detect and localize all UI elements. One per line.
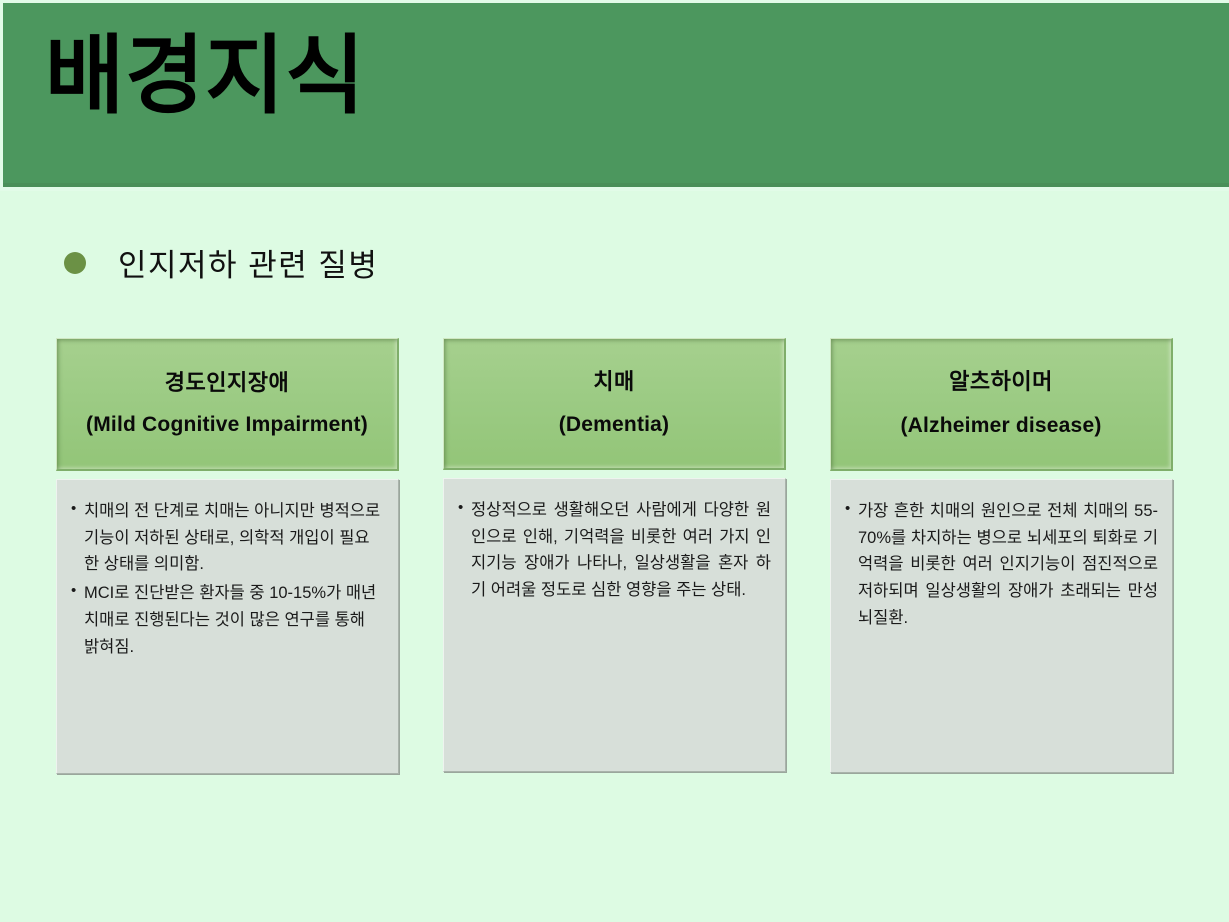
card-bullet-list: 치매의 전 단계로 치매는 아니지만 병적으로 기능이 저하된 상태로, 의학적… xyxy=(70,498,384,660)
card-header: 경도인지장애 (Mild Cognitive Impairment) xyxy=(56,338,399,471)
card-title-english: (Mild Cognitive Impairment) xyxy=(86,411,368,439)
disease-card-dementia: 치매 (Dementia) 정상적으로 생활해오던 사람에게 다양한 원인으로 … xyxy=(443,338,786,772)
page-title: 배경지식 xyxy=(45,31,365,121)
card-header: 치매 (Dementia) xyxy=(443,338,786,470)
card-body: 정상적으로 생활해오던 사람에게 다양한 원인으로 인해, 기억력을 비롯한 여… xyxy=(443,478,786,772)
card-title-english: (Dementia) xyxy=(559,411,670,439)
card-header: 알츠하이머 (Alzheimer disease) xyxy=(830,338,1173,471)
card-body: 치매의 전 단계로 치매는 아니지만 병적으로 기능이 저하된 상태로, 의학적… xyxy=(56,479,399,774)
card-title-korean: 경도인지장애 xyxy=(165,369,289,397)
card-bullet-item: 가장 흔한 치매의 원인으로 전체 치매의 55-70%를 차지하는 병으로 뇌… xyxy=(844,498,1158,632)
card-bullet-list: 정상적으로 생활해오던 사람에게 다양한 원인으로 인해, 기억력을 비롯한 여… xyxy=(457,497,771,604)
disease-card-alzheimer-disease: 알츠하이머 (Alzheimer disease) 가장 흔한 치매의 원인으로… xyxy=(830,338,1173,773)
section-heading: 인지저하 관련 질병 xyxy=(64,240,378,285)
disease-card-mild-cognitive-impairment: 경도인지장애 (Mild Cognitive Impairment) 치매의 전… xyxy=(56,338,399,774)
section-heading-label: 인지저하 관련 질병 xyxy=(118,240,378,285)
card-title-korean: 치매 xyxy=(593,368,634,396)
card-bullet-item: MCI로 진단받은 환자들 중 10-15%가 매년 치매로 진행된다는 것이 … xyxy=(70,580,384,660)
card-title-english: (Alzheimer disease) xyxy=(900,412,1101,440)
card-title-korean: 알츠하이머 xyxy=(949,368,1053,396)
card-bullet-item: 정상적으로 생활해오던 사람에게 다양한 원인으로 인해, 기억력을 비롯한 여… xyxy=(457,497,771,604)
card-body: 가장 흔한 치매의 원인으로 전체 치매의 55-70%를 차지하는 병으로 뇌… xyxy=(830,479,1173,773)
filled-circle-bullet-icon xyxy=(64,252,86,274)
slide-title-banner-fill: 배경지식 xyxy=(3,3,1229,187)
card-bullet-item: 치매의 전 단계로 치매는 아니지만 병적으로 기능이 저하된 상태로, 의학적… xyxy=(70,498,384,578)
card-bullet-list: 가장 흔한 치매의 원인으로 전체 치매의 55-70%를 차지하는 병으로 뇌… xyxy=(844,498,1158,632)
slide-title-banner: 배경지식 xyxy=(0,0,1229,191)
